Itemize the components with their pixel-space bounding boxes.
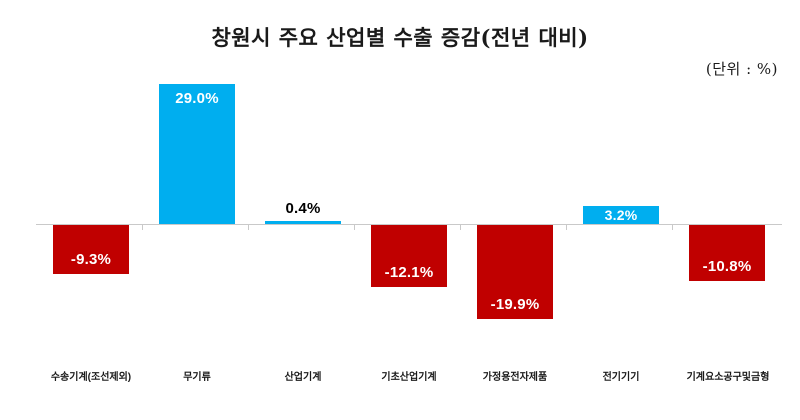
bar-value-3: -12.1% [385, 264, 434, 287]
bar-4[interactable]: -19.9% [477, 225, 553, 319]
chart-container: 창원시 주요 산업별 수출 증감(전년 대비) (단위 : %) -9.3% 2… [0, 0, 800, 420]
category-label-2: 산업기계 [248, 368, 358, 383]
category-label-4: 가정용전자제품 [460, 368, 570, 383]
bar-5[interactable]: 3.2% [583, 206, 659, 224]
category-label-1: 무기류 [142, 368, 252, 383]
plot-area: -9.3% 29.0% 0.4% -12.1% -19.9% 3.2% -10.… [0, 0, 800, 360]
category-label-3: 기초산업기계 [354, 368, 464, 383]
axis-tick [672, 224, 673, 230]
bar-value-0: -9.3% [71, 251, 111, 274]
bar-6[interactable]: -10.8% [689, 225, 765, 281]
bar-value-2: 0.4% [286, 200, 321, 217]
bar-value-4: -19.9% [491, 296, 540, 319]
bar-value-6: -10.8% [703, 258, 752, 281]
axis-tick [354, 224, 355, 230]
category-label-6: 기계요소공구및금형 [668, 368, 788, 383]
axis-tick [460, 224, 461, 230]
bar-value-1: 29.0% [175, 84, 219, 107]
bar-value-5: 3.2% [605, 206, 638, 223]
bar-2[interactable]: 0.4% [265, 221, 341, 224]
axis-tick [248, 224, 249, 230]
axis-tick [566, 224, 567, 230]
bar-3[interactable]: -12.1% [371, 225, 447, 287]
bar-1[interactable]: 29.0% [159, 84, 235, 224]
category-label-0: 수송기계(조선제외) [36, 368, 146, 383]
category-label-5: 전기기기 [566, 368, 676, 383]
axis-tick [142, 224, 143, 230]
bar-0[interactable]: -9.3% [53, 225, 129, 274]
